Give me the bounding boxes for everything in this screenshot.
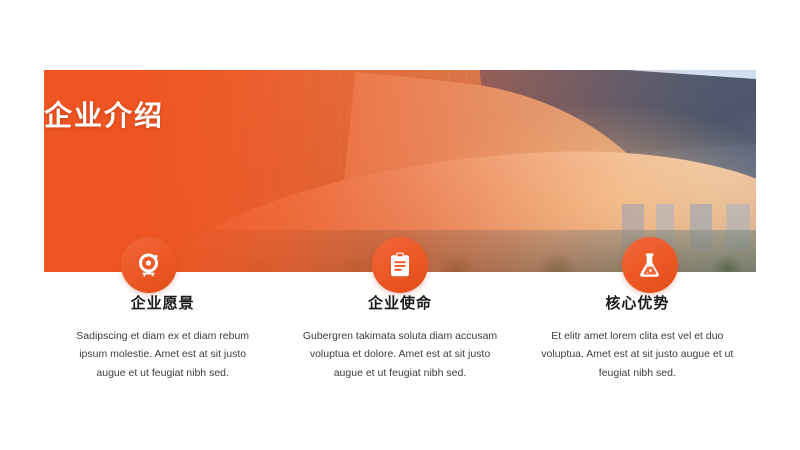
feature-column-1: 企业愿景 Sadipscing et diam ex et diam rebum… [44,295,281,382]
feature-column-3: 核心优势 Et elitr amet lorem clita est vel e… [519,295,756,382]
feature-body-2: Gubergren takimata soluta diam accusam v… [295,327,504,382]
feature-icon-badge-1 [121,237,177,293]
feature-columns: 企业愿景 Sadipscing et diam ex et diam rebum… [44,295,756,382]
feature-body-3: Et elitr amet lorem clita est vel et duo… [533,327,742,382]
feature-column-2: 企业使命 Gubergren takimata soluta diam accu… [281,295,518,382]
feature-title-3: 核心优势 [533,295,742,313]
flask-icon [636,251,664,279]
feature-body-1: Sadipscing et diam ex et diam rebum ipsu… [58,327,267,382]
feature-icon-badge-2 [372,237,428,293]
feature-title-1: 企业愿景 [58,295,267,313]
slide-canvas: 企业介绍 [0,0,800,450]
page-title: 企业介绍 [44,102,164,130]
clipboard-icon [386,251,414,279]
feature-title-2: 企业使命 [295,295,504,313]
feature-icon-badge-3 [622,237,678,293]
webcam-icon [135,251,163,279]
